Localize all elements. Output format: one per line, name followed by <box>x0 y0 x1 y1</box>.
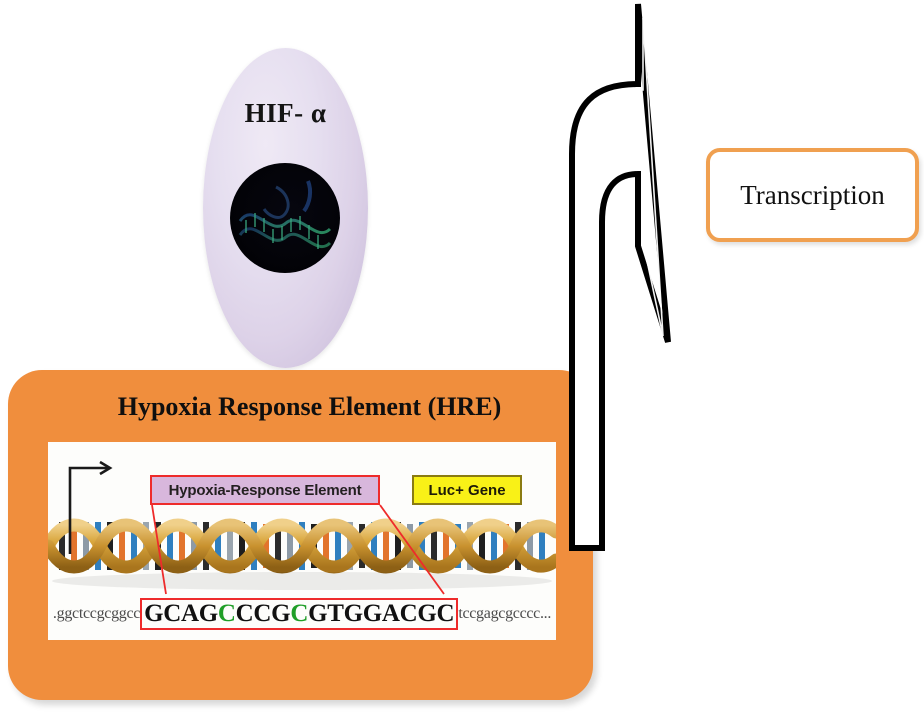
sequence-right-flank: tccgagcgcccc... <box>458 605 551 623</box>
luc-gene-tag: Luc+ Gene <box>412 475 522 505</box>
hif-alpha-cell: HIF- α <box>203 48 368 368</box>
seq-seg-1: GCAG <box>144 600 218 627</box>
nucleus <box>230 163 340 273</box>
sequence-core-box: GCAGCCCGCGTGGACGC <box>140 598 458 630</box>
hre-panel: Hypoxia Response Element (HRE) <box>8 370 593 700</box>
curved-up-arrow <box>540 0 720 556</box>
hre-panel-title: Hypoxia Response Element (HRE) <box>8 392 593 422</box>
sequence-left-flank: .ggctccgcggcc <box>53 605 140 623</box>
dna-figure: Hypoxia-Response Element Luc+ Gene .ggct… <box>48 442 556 640</box>
nuclear-dna-helix-icon <box>230 163 340 273</box>
transcription-label: Transcription <box>740 180 885 211</box>
hypoxia-response-element-tag: Hypoxia-Response Element <box>150 475 380 505</box>
seq-seg-5: GTGGACGC <box>308 600 454 627</box>
seq-seg-4: C <box>290 600 308 627</box>
seq-seg-3: CCG <box>236 600 291 627</box>
seq-seg-2: C <box>218 600 236 627</box>
hif-alpha-label: HIF- α <box>203 98 368 129</box>
dna-sequence-line: .ggctccgcggccGCAGCCCGCGTGGACGCtccgagcgcc… <box>48 594 556 634</box>
transcription-box: Transcription <box>706 148 919 242</box>
